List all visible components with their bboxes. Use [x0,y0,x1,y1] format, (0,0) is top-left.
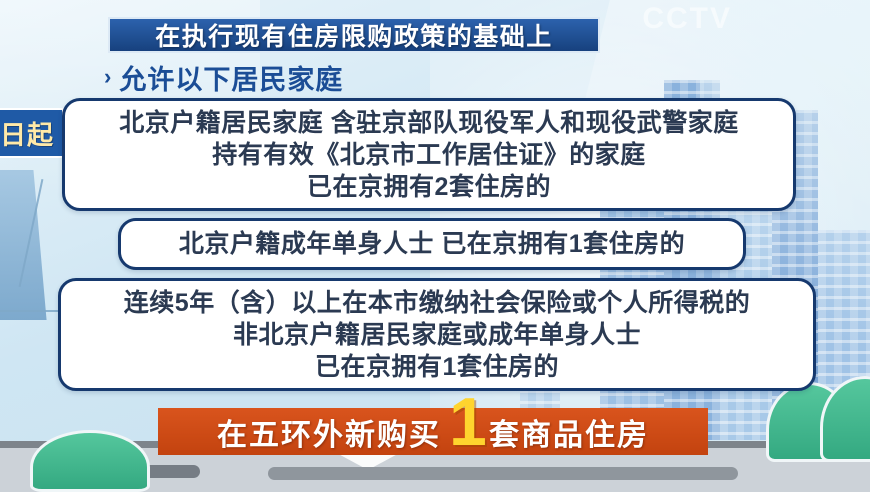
policy-line: 持有有效《北京市工作居住证》的家庭 [212,139,646,171]
header-banner: 在执行现有住房限购政策的基础上 [108,17,600,53]
policy-box-single: 北京户籍成年单身人士 已在京拥有1套住房的 [118,218,746,270]
policy-box-household: 北京户籍居民家庭 含驻京部队现役军人和现役武警家庭 持有有效《北京市工作居住证》… [62,98,796,211]
orange-banner-text-before: 在五环外新购买 [217,410,441,454]
policy-line: 已在京拥有2套住房的 [307,171,551,203]
policy-line: 北京户籍居民家庭 含驻京部队现役军人和现役武警家庭 [119,107,738,139]
chevron-right-icon: › [104,66,111,88]
policy-line: 连续5年（含）以上在本市缴纳社会保险或个人所得税的 [124,287,750,319]
date-side-tag: 日起 [0,108,64,158]
curb-block-right [268,467,738,480]
broadcast-graphic-screen: CCTV 日起 在执行现有住房限购政策的基础上 › 允许以下居民家庭 北京户籍居… [0,0,870,492]
policy-line: 已在京拥有1套住房的 [315,351,559,383]
orange-banner-text-after: 套商品住房 [489,410,649,454]
header-banner-text: 在执行现有住房限购政策的基础上 [155,17,553,53]
subtitle-row: › 允许以下居民家庭 [104,58,343,97]
highlight-number: 1 [449,388,487,456]
date-side-tag-label: 日起 [0,115,54,152]
policy-box-nonlocal: 连续5年（含）以上在本市缴纳社会保险或个人所得税的 非北京户籍居民家庭或成年单身… [58,278,816,391]
cctv-watermark: CCTV [642,2,732,36]
subtitle-text: 允许以下居民家庭 [119,58,343,97]
orange-summary-banner: 在五环外新购买 0 套商品住房 [158,408,708,455]
bush-left [30,430,150,492]
policy-line: 北京户籍成年单身人士 已在京拥有1套住房的 [179,228,685,260]
policy-line: 非北京户籍居民家庭或成年单身人士 [233,319,641,351]
